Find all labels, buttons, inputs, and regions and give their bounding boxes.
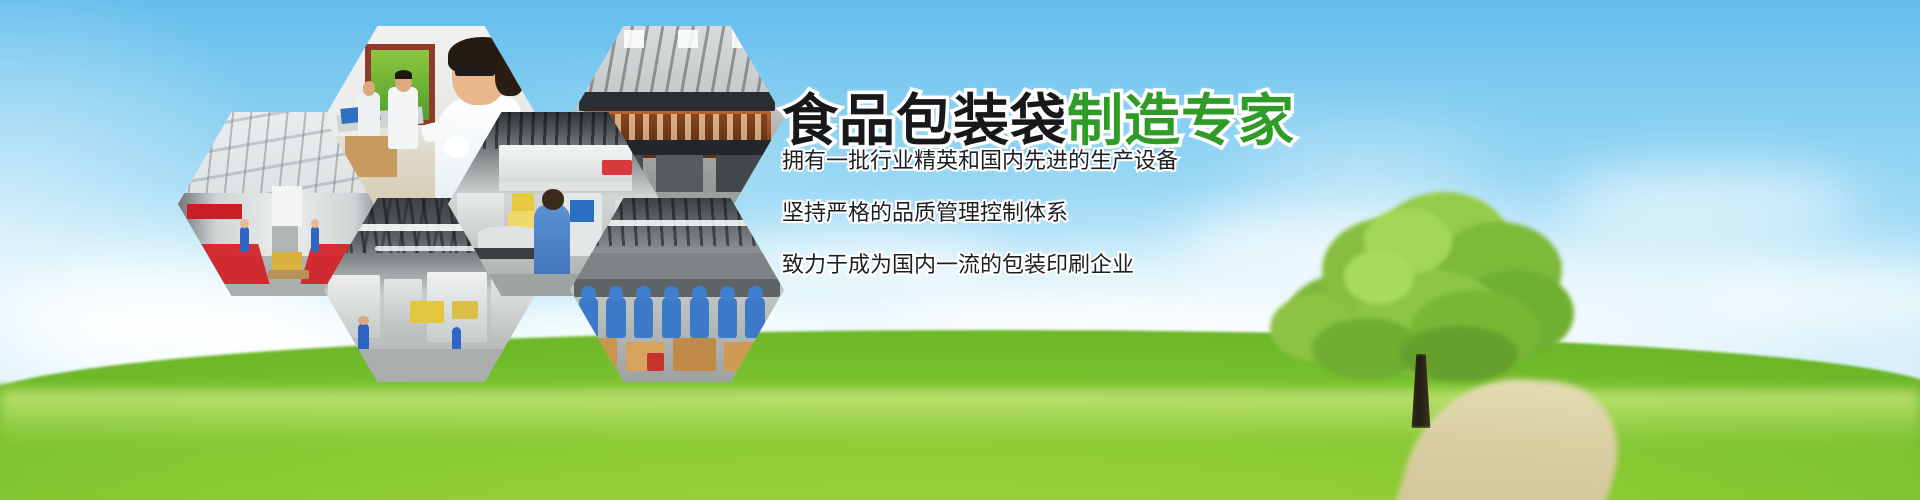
subtitle-list: 拥有一批行业精英和国内先进的生产设备 坚持严格的品质管理控制体系 致力于成为国内… — [782, 150, 1502, 276]
promo-banner: 食品包装袋制造专家 拥有一批行业精英和国内先进的生产设备 坚持严格的品质管理控制… — [0, 0, 1920, 500]
hexagon-photo-collage — [0, 0, 790, 420]
subtitle-line-2: 坚持严格的品质管理控制体系 — [782, 202, 1502, 224]
subtitle-line-1: 拥有一批行业精英和国内先进的生产设备 — [782, 150, 1502, 172]
headline-dark-part: 食品包装袋 — [782, 89, 1067, 152]
page-title: 食品包装袋制造专家 — [782, 92, 1502, 150]
subtitle-line-3: 致力于成为国内一流的包装印刷企业 — [782, 254, 1502, 276]
banner-copy: 食品包装袋制造专家 拥有一批行业精英和国内先进的生产设备 坚持严格的品质管理控制… — [782, 92, 1502, 276]
headline-green-part: 制造专家 — [1067, 89, 1295, 152]
